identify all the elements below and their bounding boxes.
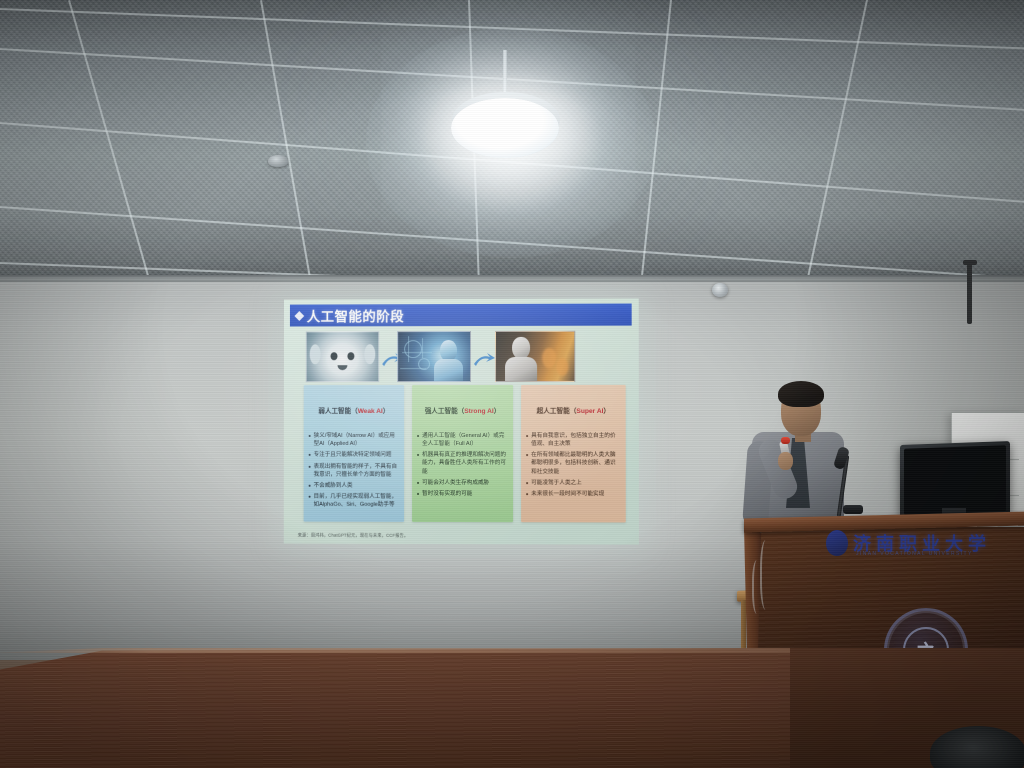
circuit-line (402, 352, 432, 353)
lecture-hall-photo: 人工智能的阶段 (0, 0, 1024, 768)
speaker-hair (778, 381, 824, 407)
robot-head (512, 337, 530, 359)
list-item: 在所有领域都比最聪明的人类大脑都聪明很多，包括科技创新、通识和社交技能 (526, 451, 621, 476)
column-heading: 弱人工智能（Weak AI） (309, 408, 399, 416)
list-item: 专注于且只能解决特定领域问题 (309, 451, 399, 459)
column-heading: 超人工智能（Super AI） (526, 408, 621, 416)
smoke-detector (268, 155, 288, 167)
circuit-line (422, 338, 423, 358)
stool-leg (741, 600, 746, 652)
photo-pepper-robot (306, 331, 380, 382)
wall-cable (963, 260, 977, 265)
column-weak-ai: 弱人工智能（Weak AI） 狭义/窄域AI（Narrow AI）或应用型AI（… (304, 385, 404, 522)
circuit-line (408, 336, 409, 362)
monitor-screen (904, 445, 1006, 515)
column-super-ai: 超人工智能（Super AI） 具有自我意识，包括独立自主的价值观、自主决策 在… (521, 385, 626, 523)
column-heading-en: Strong AI (464, 408, 493, 415)
circuit-line (400, 368, 426, 369)
robot-mouth (337, 365, 347, 370)
bullet-list: 具有自我意识，包括独立自主的价值观、自主决策 在所有领域都比最聪明的人类大脑都聪… (526, 432, 621, 499)
bullet-list: 狭义/窄域AI（Narrow AI）或应用型AI（Applied AI） 专注于… (309, 432, 400, 510)
robot-body (505, 357, 537, 381)
factory-light (556, 358, 568, 376)
list-item: 狭义/窄域AI（Narrow AI）或应用型AI（Applied AI） (309, 432, 399, 448)
university-logo-mark (826, 530, 848, 556)
microphone-base (843, 505, 863, 514)
speaker-hand (778, 452, 793, 470)
podium-cable (752, 560, 764, 614)
list-item: 可能会对人类生存构成威胁 (417, 479, 508, 487)
podium-name-banner: 济南职业大学 (820, 523, 1024, 563)
slide-photo-row (296, 331, 627, 381)
slide-title-bar: 人工智能的阶段 (290, 304, 632, 327)
microphone-indicator (781, 437, 790, 444)
bullet-list: 通用人工智能（General AI）或完全人工智能（Full AI） 机器具有真… (417, 432, 508, 498)
diamond-bullet-icon (294, 311, 304, 321)
wooden-table (0, 648, 790, 768)
list-item: 暂时没有实现的可能 (417, 490, 508, 498)
photo-industrial-robot (495, 331, 575, 382)
slide-footer-source: 来源：周鸿祎，ChatGPT纪元，现在与未来，CCF报告。 (298, 533, 627, 540)
list-item: 不会威胁到人类 (309, 482, 399, 490)
lamp-rod (503, 50, 507, 98)
projected-slide: 人工智能的阶段 (284, 298, 639, 544)
robot-body (434, 359, 463, 381)
robot-head (440, 340, 457, 361)
factory-light (542, 348, 556, 368)
university-name-en: JINAN VOCATIONAL UNIVERSITY (856, 551, 973, 557)
robot-eye (347, 352, 354, 360)
wall-cable (967, 262, 972, 324)
column-heading: 强人工智能（Strong AI） (417, 408, 508, 416)
ceiling (0, 0, 1024, 282)
ceiling-pendant-lamp (451, 98, 559, 158)
photo-ai-brain-robot (397, 331, 471, 382)
table-wood-grain (0, 648, 790, 768)
list-item: 未来很长一段时间不可能实现 (526, 490, 621, 498)
list-item: 可能凌驾于人类之上 (526, 479, 621, 487)
column-strong-ai: 强人工智能（Strong AI） 通用人工智能（General AI）或完全人工… (412, 385, 513, 522)
column-heading-en: Super AI (576, 408, 603, 415)
list-item: 具有自我意识，包括独立自主的价值观、自主决策 (526, 432, 621, 448)
list-item: 机器具有真正的推理和解决问题的能力，具备胜任人类所有工作的可能 (417, 451, 508, 475)
column-heading-en: Weak AI (358, 408, 383, 415)
column-heading-cn: 强人工智能 (425, 408, 458, 415)
robot-ear (364, 344, 375, 364)
ceiling-camera (712, 283, 728, 297)
robot-eye (331, 352, 338, 360)
list-item: 目前，几乎已经实现弱人工智能，如AlphaGo、Siri、Google助手等 (309, 493, 399, 509)
list-item: 表现出拥有智能的样子，不具有自我意识，只擅长单个方面的智能 (309, 462, 399, 478)
robot-ear (310, 344, 321, 364)
circuit-ring (404, 340, 422, 358)
slide-columns: 弱人工智能（Weak AI） 狭义/窄域AI（Narrow AI）或应用型AI（… (296, 385, 627, 523)
column-heading-cn: 超人工智能 (537, 408, 570, 415)
arrow-strong-to-super (473, 353, 495, 367)
table-edge-highlight (0, 648, 790, 653)
slide-title: 人工智能的阶段 (307, 305, 404, 325)
column-heading-cn: 弱人工智能 (318, 408, 351, 415)
list-item: 通用人工智能（General AI）或完全人工智能（Full AI） (417, 432, 508, 448)
